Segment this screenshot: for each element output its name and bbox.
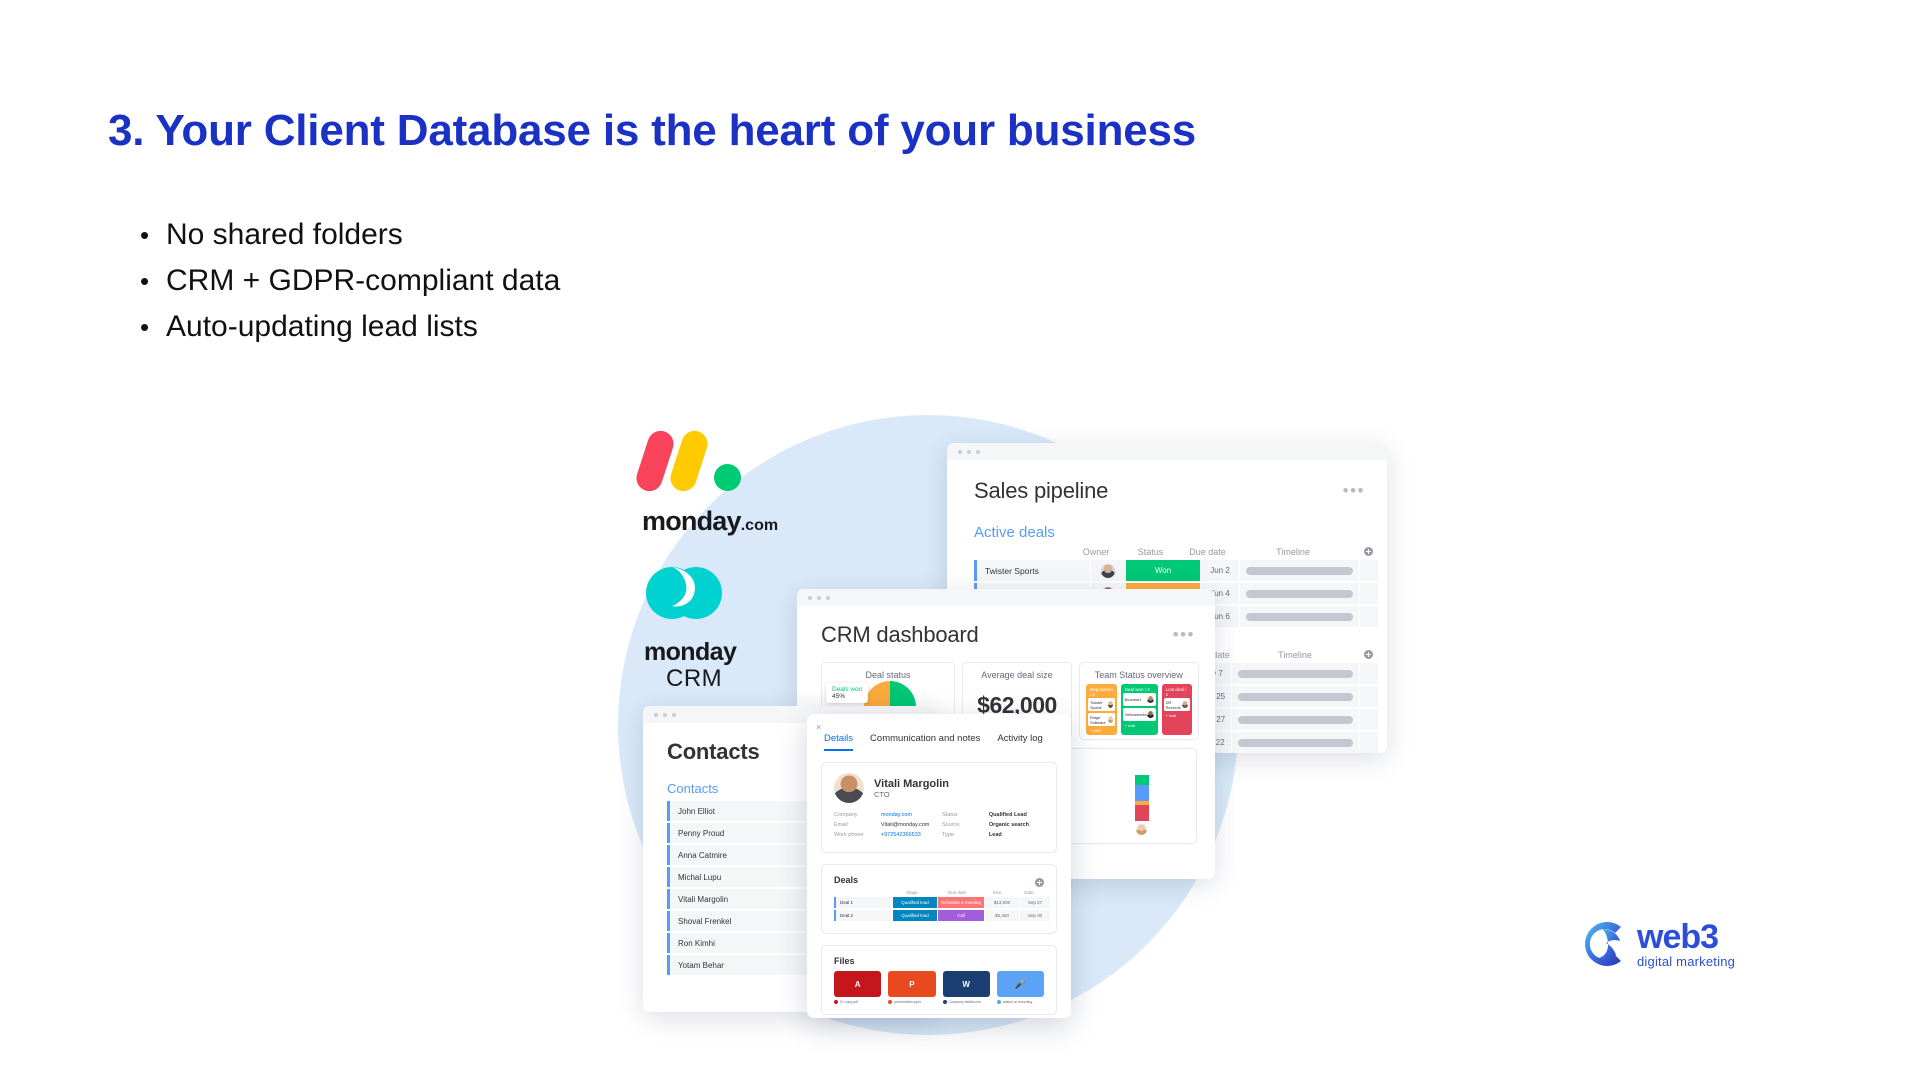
timeline-cell <box>1240 606 1359 627</box>
timeline-cell <box>1232 686 1359 707</box>
column-header-size: Size <box>980 890 1014 895</box>
person-card: Vitali Margolin CTO Companymonday.com Em… <box>821 762 1057 853</box>
bullet-marker-icon: • <box>140 304 166 350</box>
column-header-stage: Stage <box>890 890 934 895</box>
team-status-card[interactable]: Twister Sports <box>1088 698 1115 711</box>
deals-column-headers: Stage Due date Size Date <box>834 890 1044 895</box>
window-dot-icon <box>817 596 821 600</box>
team-status-column-deal-won[interactable]: Deal won / 2 Bluemart Yellowworks + Add <box>1121 684 1158 735</box>
table-row[interactable]: May 27 <box>1192 709 1378 730</box>
file-item[interactable]: 🎤 station.ai recording <box>997 971 1044 1004</box>
monday-logo: monday.com <box>642 430 762 537</box>
row-spacer <box>1360 663 1378 684</box>
deal-due-badge[interactable]: Call <box>938 910 984 921</box>
monday-crm-product-label: CRM <box>666 665 774 693</box>
field-key: Work phone <box>834 832 881 838</box>
pdf-file-icon: A <box>834 971 881 997</box>
audio-file-icon: 🎤 <box>997 971 1044 997</box>
window-dot-icon <box>967 450 971 454</box>
field-value: Organic search <box>989 822 1029 828</box>
column-header-timeline: Timeline <box>1227 547 1359 557</box>
contact-name: Michal Lupu <box>667 867 828 887</box>
contact-name: Vitali Margolin <box>667 889 828 909</box>
deal-stage-badge[interactable]: Qualified lead <box>893 897 937 908</box>
team-status-card[interactable]: DR Records <box>1164 698 1190 711</box>
window-titlebar <box>797 589 1215 606</box>
web3-tagline: digital marketing <box>1637 955 1735 968</box>
field-row: TypeLead <box>942 832 1044 838</box>
add-column-icon[interactable] <box>1364 650 1373 659</box>
bullet-text: No shared folders <box>166 212 403 258</box>
file-meta: Company details.doc <box>943 1000 990 1004</box>
contact-details-panel[interactable]: × Details Communication and notes Activi… <box>807 714 1071 1018</box>
file-name: 01 copy.pdf <box>840 1000 858 1004</box>
web3-title: web3 <box>1637 920 1735 954</box>
field-value[interactable]: monday.com <box>881 812 912 818</box>
bullet-text: CRM + GDPR-compliant data <box>166 258 560 304</box>
timeline-track <box>1246 567 1353 575</box>
owner-cell <box>1091 560 1125 581</box>
file-item[interactable]: A 01 copy.pdf <box>834 971 881 1004</box>
deal-date: Sep 27 <box>1020 897 1050 908</box>
files-title: Files <box>834 956 1044 966</box>
file-item[interactable]: P presentation.pptx <box>888 971 935 1004</box>
person-role: CTO <box>874 790 949 799</box>
avatar <box>834 773 864 803</box>
add-column-icon[interactable] <box>1035 878 1044 887</box>
contact-name: Ron Kimhi <box>667 933 828 953</box>
deal-status-tooltip: Deals won 45% <box>826 683 868 703</box>
sales-pipeline-title: Sales pipeline <box>974 478 1108 504</box>
more-options-icon[interactable]: ••• <box>1343 486 1365 496</box>
file-meta: station.ai recording <box>997 1000 1044 1004</box>
status-badge[interactable]: Won <box>1126 560 1200 581</box>
deal-due-badge[interactable]: Schedule a meeting <box>938 897 984 908</box>
avatar <box>1147 696 1154 703</box>
tab-activity-log[interactable]: Activity log <box>997 733 1042 751</box>
timeline-cell <box>1232 709 1359 730</box>
timeline-cell <box>1240 583 1359 604</box>
team-status-card-label: Yellowworks <box>1125 712 1147 717</box>
avatar <box>1101 564 1115 578</box>
person-fields-right: StatusQualified Lead SourceOrganic searc… <box>942 812 1044 842</box>
person-name: Vitali Margolin <box>874 778 949 790</box>
sales-pipeline-column-headers: Owner Status Due date Timeline <box>947 547 1387 560</box>
row-spacer <box>1360 732 1378 753</box>
timeline-track <box>1238 670 1353 678</box>
tab-communication-and-notes[interactable]: Communication and notes <box>870 733 980 751</box>
monday-bar-yellow-icon <box>667 428 711 495</box>
column-header-timeline-2: Timeline <box>1231 650 1359 660</box>
field-row: StatusQualified Lead <box>942 812 1044 818</box>
person-fields: Companymonday.com EmailVitali@monday.com… <box>834 812 1044 842</box>
crm-dashboard-header: CRM dashboard ••• <box>797 606 1215 648</box>
timeline-track <box>1238 693 1353 701</box>
field-row: Companymonday.com <box>834 812 936 818</box>
bullet-list: • No shared folders • CRM + GDPR-complia… <box>140 212 560 350</box>
team-status-column-header: Lost deal / 1 <box>1164 686 1190 698</box>
field-value: Qualified Lead <box>989 812 1027 818</box>
field-key: Status <box>942 812 989 818</box>
crm-dashboard-title: CRM dashboard <box>821 622 979 648</box>
team-status-card[interactable]: Bluemart <box>1123 693 1156 706</box>
files-list: A 01 copy.pdf P presentation.pptx W Comp… <box>834 971 1044 1004</box>
more-options-icon[interactable]: ••• <box>1173 630 1195 640</box>
field-row: EmailVitali@monday.com <box>834 822 936 828</box>
table-row[interactable]: May 7 <box>1192 663 1378 684</box>
file-meta: presentation.pptx <box>888 1000 935 1004</box>
bar-segment-green <box>1135 775 1149 785</box>
column-header-owner: Owner <box>1079 547 1113 557</box>
table-row[interactable]: Deal 2 Qualified lead Call $5,400 Sep 30 <box>834 910 1044 921</box>
field-key: Company <box>834 812 881 818</box>
monday-wordmark-suffix: .com <box>741 517 778 534</box>
row-spacer <box>1360 686 1378 707</box>
avatar <box>1108 701 1113 708</box>
bullet-text: Auto-updating lead lists <box>166 304 478 350</box>
list-item: • Auto-updating lead lists <box>140 304 560 350</box>
team-status-card-label: Bluemart <box>1125 697 1141 702</box>
table-row[interactable]: May 25 <box>1192 686 1378 707</box>
team-status-card-label: DR Records <box>1166 700 1183 710</box>
stacked-bar <box>1135 775 1149 821</box>
team-status-columns: Negotiation / 2 Twister Sports Ridge Sof… <box>1086 684 1192 735</box>
file-type-dot-icon <box>943 1000 947 1004</box>
window-dot-icon <box>672 713 676 717</box>
team-status-card-label: Ridge Software <box>1090 715 1108 725</box>
field-row: Work phone+972542366533 <box>834 832 936 838</box>
table-row[interactable]: Deal 1 Qualified lead Schedule a meeting… <box>834 897 1044 908</box>
monday-wordmark: monday.com <box>642 506 762 537</box>
page-title: 3. Your Client Database is the heart of … <box>108 106 1196 156</box>
deal-stage-badge[interactable]: Qualified lead <box>893 910 937 921</box>
monday-bar-red-icon <box>633 428 677 495</box>
file-name: Company details.doc <box>949 1000 982 1004</box>
team-status-add-link[interactable]: + Add <box>1164 713 1190 718</box>
file-type-dot-icon <box>834 1000 838 1004</box>
column-header-due-date: Due date <box>934 890 980 895</box>
timeline-cell <box>1232 732 1359 753</box>
file-type-dot-icon <box>888 1000 892 1004</box>
bullet-marker-icon: • <box>140 258 166 304</box>
deals-section: Deals Stage Due date Size Date Deal 1 Qu… <box>821 864 1057 934</box>
files-section: Files A 01 copy.pdf P presentation.pptx … <box>821 945 1057 1015</box>
word-file-icon: W <box>943 971 990 997</box>
deal-name: Deal 2 <box>834 910 892 921</box>
field-key: Type <box>942 832 989 838</box>
team-status-card[interactable]: Yellowworks <box>1123 708 1156 721</box>
monday-crm-logo: monday CRM <box>644 560 774 693</box>
window-titlebar <box>947 443 1387 460</box>
bullet-marker-icon: • <box>140 212 166 258</box>
team-status-column-negotiation[interactable]: Negotiation / 2 Twister Sports Ridge Sof… <box>1086 684 1117 735</box>
row-spacer <box>1360 709 1378 730</box>
average-deal-title: Average deal size <box>969 670 1065 680</box>
monday-mark-icon <box>642 430 750 492</box>
agent-column <box>1135 775 1149 835</box>
table-row[interactable]: Twister Sports Won Jun 2 <box>974 560 1378 581</box>
bar-segment-red <box>1135 805 1149 821</box>
column-header-date: Date <box>1014 890 1044 895</box>
slide-canvas: 3. Your Client Database is the heart of … <box>0 0 1920 1080</box>
window-dot-icon <box>654 713 658 717</box>
add-column-icon[interactable] <box>1364 547 1373 556</box>
avatar <box>1108 716 1113 723</box>
monday-wordmark-text: monday <box>642 506 741 536</box>
file-name: station.ai recording <box>1003 1000 1033 1004</box>
team-status-column-header: Negotiation / 2 <box>1088 686 1115 698</box>
team-status-add-link[interactable]: + Add <box>1088 728 1115 733</box>
window-dot-icon <box>826 596 830 600</box>
field-value: Vitali@monday.com <box>881 822 929 828</box>
deal-status-tooltip-label: Deals won <box>832 686 862 693</box>
window-dot-icon <box>663 713 667 717</box>
details-tabs: Details Communication and notes Activity… <box>807 714 1071 751</box>
field-value[interactable]: +972542366533 <box>881 832 921 838</box>
contact-name: Yotam Behar <box>667 955 828 975</box>
avatar <box>1136 824 1147 835</box>
web3-mark-icon <box>1575 915 1633 973</box>
powerpoint-file-icon: P <box>888 971 935 997</box>
file-name: presentation.pptx <box>894 1000 921 1004</box>
contact-name: Shoval Frenkel <box>667 911 828 931</box>
avatar <box>1182 701 1187 708</box>
field-row: SourceOrganic search <box>942 822 1044 828</box>
timeline-track <box>1238 716 1353 724</box>
timeline-track <box>1246 613 1353 621</box>
team-status-widget[interactable]: Team Status overview Negotiation / 2 Twi… <box>1079 662 1199 740</box>
sales-pipeline-header: Sales pipeline ••• <box>947 460 1387 504</box>
bar-segment-blue <box>1135 785 1149 801</box>
window-dot-icon <box>976 450 980 454</box>
deals-title: Deals <box>834 875 858 885</box>
deal-name: Deal 1 <box>834 897 892 908</box>
deal-size: $5,400 <box>985 910 1019 921</box>
window-dot-icon <box>808 596 812 600</box>
field-key: Source <box>942 822 989 828</box>
row-spacer <box>1360 583 1378 604</box>
timeline-track <box>1246 590 1353 598</box>
row-spacer <box>1360 606 1378 627</box>
file-meta: 01 copy.pdf <box>834 1000 881 1004</box>
web3-logo: web3 digital marketing <box>1575 915 1735 973</box>
timeline-cell <box>1240 560 1359 581</box>
team-status-add-link[interactable]: + Add <box>1123 723 1156 728</box>
tab-details[interactable]: Details <box>824 733 853 751</box>
row-spacer <box>1360 560 1378 581</box>
contact-name: Anna Catmire <box>667 845 828 865</box>
field-value: Lead <box>989 832 1002 838</box>
person-header: Vitali Margolin CTO <box>834 773 1044 803</box>
monday-crm-wordmark: monday <box>644 638 774 667</box>
list-item: • No shared folders <box>140 212 560 258</box>
deal-name: Twister Sports <box>974 560 1090 581</box>
avatar <box>1147 711 1154 718</box>
table-row[interactable]: Sep 22 <box>1192 732 1378 753</box>
team-status-card-label: Twister Sports <box>1090 700 1108 710</box>
deal-status-title: Deal status <box>828 670 948 680</box>
monday-crm-mark-icon <box>646 560 722 626</box>
deal-date: Sep 30 <box>1020 910 1050 921</box>
person-fields-left: Companymonday.com EmailVitali@monday.com… <box>834 812 936 842</box>
column-header-due-date: Due date <box>1188 547 1227 557</box>
team-status-column-lost-deal[interactable]: Lost deal / 1 DR Records + Add <box>1162 684 1192 735</box>
window-dot-icon <box>958 450 962 454</box>
contact-name: Penny Proud <box>667 823 828 843</box>
monday-dot-green-icon <box>714 464 741 491</box>
team-status-column-header: Deal won / 2 <box>1123 686 1156 693</box>
deal-status-tooltip-value: 45% <box>832 693 862 700</box>
timeline-track <box>1238 739 1353 747</box>
team-status-card[interactable]: Ridge Software <box>1088 713 1115 726</box>
close-icon[interactable]: × <box>816 722 821 732</box>
file-item[interactable]: W Company details.doc <box>943 971 990 1004</box>
timeline-cell <box>1232 663 1359 684</box>
deal-size: $13,000 <box>985 897 1019 908</box>
contact-name: John Elliot <box>667 801 828 821</box>
list-item: • CRM + GDPR-compliant data <box>140 258 560 304</box>
file-type-dot-icon <box>997 1000 1001 1004</box>
team-status-title: Team Status overview <box>1086 670 1192 680</box>
field-key: Email <box>834 822 881 828</box>
sales-pipeline-group-title[interactable]: Active deals <box>947 504 1387 547</box>
web3-wordmark: web3 digital marketing <box>1637 920 1735 968</box>
due-date-cell: Jun 2 <box>1201 560 1239 581</box>
column-header-status: Status <box>1113 547 1188 557</box>
